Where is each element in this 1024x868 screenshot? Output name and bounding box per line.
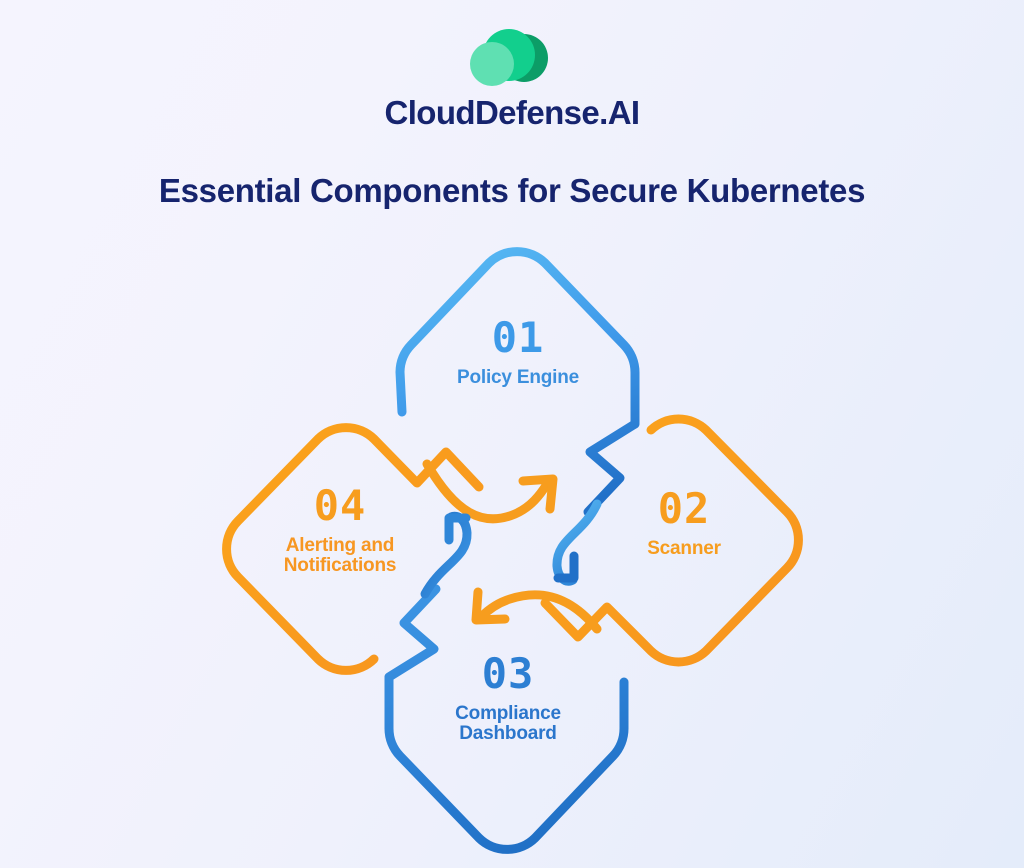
node-label-03: Compliance Dashboard — [408, 704, 608, 744]
node-label-04-line1: Alerting and — [286, 535, 394, 556]
node-label-02: Scanner — [598, 539, 770, 559]
node-number-02: 02 — [598, 487, 770, 531]
node-text-03: 03 Compliance Dashboard — [408, 652, 608, 744]
node-label-01: Policy Engine — [418, 368, 618, 388]
node-number-03: 03 — [408, 652, 608, 696]
arrow-right-to-bottom — [476, 592, 597, 629]
infographic-page: CloudDefense.AI Essential Components for… — [0, 0, 1024, 868]
node-number-04: 04 — [240, 484, 440, 528]
node-text-01: 01 Policy Engine — [418, 316, 618, 388]
arrow-left-to-top — [427, 464, 553, 519]
node-label-03-line1: Compliance — [455, 703, 561, 724]
node-label-04: Alerting and Notifications — [240, 536, 440, 576]
arrow-top-to-right — [557, 504, 597, 581]
node-number-01: 01 — [418, 316, 618, 360]
node-text-04: 04 Alerting and Notifications — [240, 484, 440, 576]
node-label-04-line2: Notifications — [284, 555, 396, 576]
node-label-03-line2: Dashboard — [459, 723, 556, 744]
node-text-02: 02 Scanner — [598, 487, 770, 559]
